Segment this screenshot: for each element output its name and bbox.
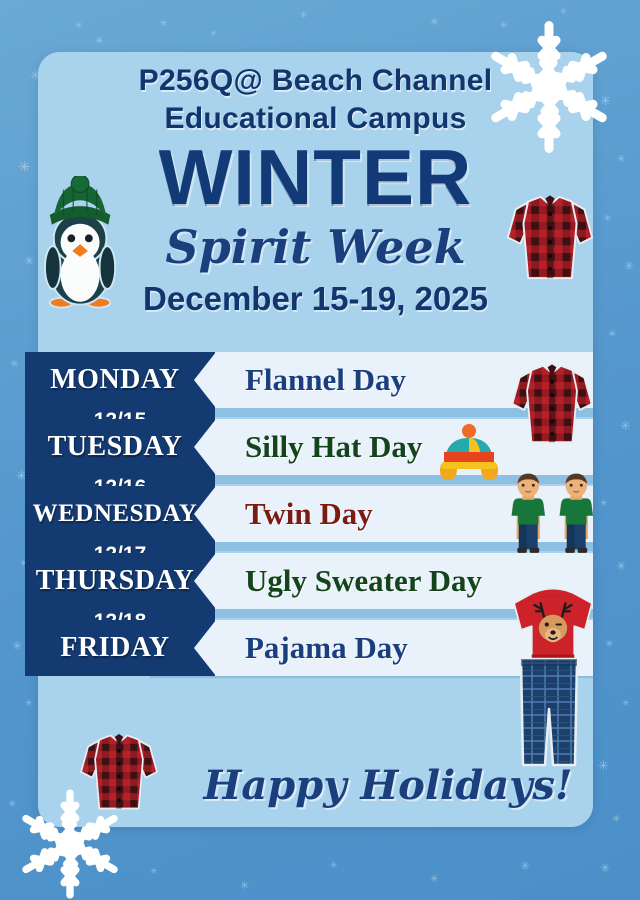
activity-label: Pajama Day <box>245 620 408 676</box>
day-name: WEDNESDAY <box>25 486 205 542</box>
day-tag: WEDNESDAY <box>25 486 215 542</box>
sparkle-snowflake-icon: ✳ <box>240 880 249 891</box>
snowflake-large-topright-icon <box>474 12 624 162</box>
sparkle-snowflake-icon: ✳ <box>24 255 34 267</box>
activity-label: Twin Day <box>245 486 373 542</box>
sparkle-snowflake-icon: ✳ <box>612 815 620 825</box>
ugly-sweater-icon <box>508 582 598 667</box>
day-tag: FRIDAY <box>25 620 215 676</box>
sparkle-snowflake-icon: ✳ <box>624 260 634 272</box>
sparkle-snowflake-icon: ✳ <box>75 22 83 31</box>
sparkle-snowflake-icon: ✳ <box>95 37 103 47</box>
activity-label: Silly Hat Day <box>245 419 422 475</box>
silly-hat-icon <box>437 424 501 482</box>
sparkle-snowflake-icon: ✳ <box>300 12 308 21</box>
sparkle-snowflake-icon: ✳ <box>160 20 168 29</box>
sparkle-snowflake-icon: ✳ <box>600 862 610 874</box>
sparkle-snowflake-icon: ✳ <box>604 215 612 224</box>
sparkle-snowflake-icon: ✳ <box>520 860 530 872</box>
sparkle-snowflake-icon: ✳ <box>210 30 217 38</box>
penguin-icon <box>44 176 122 326</box>
sparkle-snowflake-icon: ✳ <box>430 18 438 28</box>
pajama-pants-icon <box>513 657 585 775</box>
sparkle-snowflake-icon: ✳ <box>608 330 616 340</box>
flannel-shirt-header-icon <box>500 175 600 300</box>
day-tag: THURSDAY <box>25 553 215 609</box>
sparkle-snowflake-icon: ✳ <box>430 875 438 885</box>
winter-spirit-week-poster: ✳✳✳✳✳✳✳✳✳✳✳✳✳✳✳✳✳✳✳✳✳✳✳✳✳✳✳✳✳✳✳✳✳✳✳✳✳ P2… <box>0 0 640 900</box>
snowflake-large-bottomleft-icon <box>8 782 132 900</box>
day-name: FRIDAY <box>25 620 205 676</box>
sparkle-snowflake-icon: ✳ <box>330 862 338 871</box>
sparkle-snowflake-icon: ✳ <box>25 700 33 709</box>
day-name: TUESDAY <box>25 419 205 475</box>
day-tag: TUESDAY <box>25 419 215 475</box>
sparkle-snowflake-icon: ✳ <box>622 700 630 709</box>
sparkle-snowflake-icon: ✳ <box>598 760 609 773</box>
sparkle-snowflake-icon: ✳ <box>150 868 158 877</box>
activity-label: Ugly Sweater Day <box>245 553 482 609</box>
day-name: MONDAY <box>25 352 205 408</box>
sparkle-snowflake-icon: ✳ <box>18 160 31 175</box>
activity-label: Flannel Day <box>245 352 406 408</box>
day-name: THURSDAY <box>25 553 205 609</box>
twins-icon <box>505 455 601 570</box>
flannel-shirt-icon <box>505 345 599 463</box>
day-tag: MONDAY <box>25 352 215 408</box>
